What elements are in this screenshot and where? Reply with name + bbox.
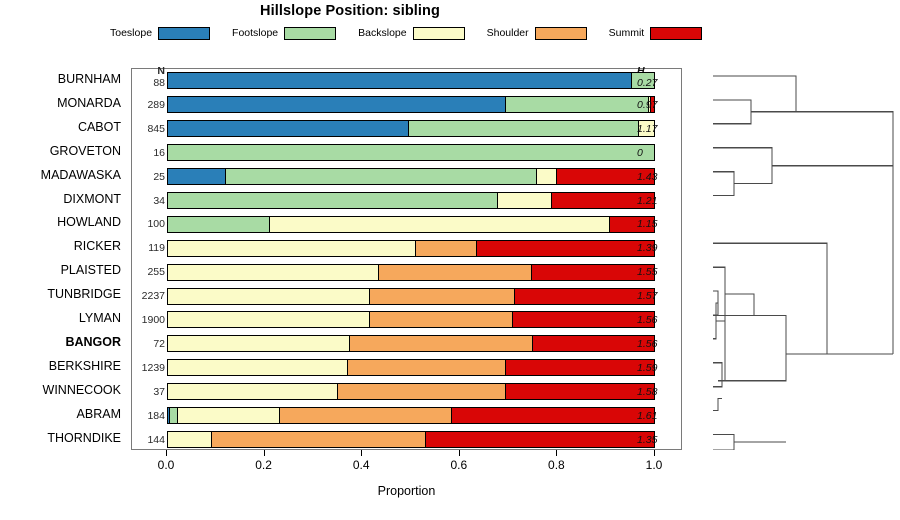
legend-label-summit: Summit	[609, 27, 645, 39]
legend-label-toeslope: Toeslope	[110, 27, 152, 39]
stacked-bar[interactable]	[167, 383, 655, 400]
bar-segment-shoulder[interactable]	[212, 432, 426, 447]
y-axis-label-thorndike: THORNDIKE	[0, 431, 127, 445]
y-axis-label-madawaska: MADAWASKA	[0, 168, 127, 182]
n-value: 72	[119, 338, 165, 350]
n-value: 88	[119, 77, 165, 89]
bar-segment-shoulder[interactable]	[379, 265, 532, 280]
stacked-bar[interactable]	[167, 407, 655, 424]
x-axis-tick-label: 0.4	[353, 458, 370, 472]
h-value: 1.17	[637, 123, 681, 135]
stacked-bar[interactable]	[167, 168, 655, 185]
h-value: 1.43	[637, 171, 681, 183]
h-value: 1.56	[637, 314, 681, 326]
h-value: 1.58	[637, 386, 681, 398]
h-value: 1.56	[637, 338, 681, 350]
stacked-bar[interactable]	[167, 288, 655, 305]
bar-segment-summit[interactable]	[533, 336, 655, 351]
stacked-bar[interactable]	[167, 216, 655, 233]
h-value: 0.27	[637, 77, 681, 89]
bar-segment-backslope[interactable]	[168, 336, 350, 351]
stacked-bar[interactable]	[167, 96, 655, 113]
bar-row: 1191.39	[132, 236, 681, 260]
bar-segment-backslope[interactable]	[168, 289, 370, 304]
n-column-header: N	[119, 65, 165, 77]
bar-row: 1841.61	[132, 404, 681, 428]
legend-label-shoulder: Shoulder	[487, 27, 529, 39]
bar-segment-summit[interactable]	[532, 265, 654, 280]
legend: Toeslope Footslope Backslope Shoulder Su…	[110, 25, 710, 41]
bar-segment-backslope[interactable]	[270, 217, 610, 232]
legend-item-toeslope: Toeslope	[110, 27, 210, 40]
n-value: 119	[119, 242, 165, 254]
n-value: 1900	[119, 314, 165, 326]
y-axis-label-cabot: CABOT	[0, 120, 127, 134]
stacked-bar[interactable]	[167, 144, 655, 161]
x-axis: 0.00.20.40.60.81.0	[131, 450, 682, 480]
bar-segment-shoulder[interactable]	[370, 312, 513, 327]
h-value: 1.61	[637, 410, 681, 422]
legend-swatch-backslope	[413, 27, 465, 40]
x-axis-tick-label: 1.0	[646, 458, 663, 472]
bar-row: 160	[132, 141, 681, 165]
y-axis-label-howland: HOWLAND	[0, 215, 127, 229]
x-axis-tick	[166, 450, 167, 456]
bar-segment-toeslope[interactable]	[168, 73, 632, 88]
n-value: 34	[119, 195, 165, 207]
dendrogram-svg	[690, 68, 895, 450]
bar-row: 2551.55	[132, 260, 681, 284]
bar-segment-shoulder[interactable]	[348, 360, 506, 375]
bar-segment-footslope[interactable]	[506, 97, 649, 112]
bar-segment-backslope[interactable]	[168, 312, 370, 327]
bar-segment-footslope[interactable]	[168, 193, 498, 208]
y-axis-label-ricker: RICKER	[0, 239, 127, 253]
bar-row: 341.21	[132, 189, 681, 213]
legend-item-summit: Summit	[609, 27, 703, 40]
dendrogram	[690, 68, 895, 450]
h-value: 1.21	[637, 195, 681, 207]
h-value: 1.35	[637, 434, 681, 446]
n-value: 16	[119, 147, 165, 159]
n-value: 100	[119, 218, 165, 230]
chart-title: Hillslope Position: sibling	[0, 3, 700, 19]
bar-segment-shoulder[interactable]	[350, 336, 532, 351]
bar-row: 12391.59	[132, 356, 681, 380]
bar-segment-summit[interactable]	[477, 241, 654, 256]
bar-row: 371.58	[132, 380, 681, 404]
n-value: 25	[119, 171, 165, 183]
y-axis-label-monarda: MONARDA	[0, 96, 127, 110]
bar-segment-shoulder[interactable]	[280, 408, 453, 423]
n-value: 845	[119, 123, 165, 135]
stacked-bar[interactable]	[167, 431, 655, 448]
h-value: 1.55	[637, 266, 681, 278]
stacked-bar[interactable]	[167, 72, 655, 89]
h-value: 0.97	[637, 99, 681, 111]
y-axis-label-dixmont: DIXMONT	[0, 192, 127, 206]
y-axis-label-groveton: GROVETON	[0, 144, 127, 158]
bar-segment-footslope[interactable]	[170, 408, 177, 423]
legend-item-footslope: Footslope	[232, 27, 336, 40]
n-value: 37	[119, 386, 165, 398]
bar-segment-summit[interactable]	[506, 384, 654, 399]
bar-segment-toeslope[interactable]	[168, 121, 409, 136]
x-axis-tick	[264, 450, 265, 456]
x-axis-tick	[459, 450, 460, 456]
bar-segment-toeslope[interactable]	[168, 169, 226, 184]
bar-segment-backslope[interactable]	[178, 408, 280, 423]
bar-segment-backslope[interactable]	[537, 169, 556, 184]
legend-item-backslope: Backslope	[358, 27, 464, 40]
stacked-bar[interactable]	[167, 311, 655, 328]
n-value: 184	[119, 410, 165, 422]
stacked-bar[interactable]	[167, 359, 655, 376]
y-axis-series-names: BURNHAMMONARDACABOTGROVETONMADAWASKADIXM…	[0, 68, 127, 450]
x-axis-tick	[361, 450, 362, 456]
n-value: 1239	[119, 362, 165, 374]
h-value: 1.15	[637, 218, 681, 230]
n-value: 144	[119, 434, 165, 446]
x-axis-tick-label: 0.8	[548, 458, 565, 472]
h-value: 1.39	[637, 242, 681, 254]
stacked-bar[interactable]	[167, 120, 655, 137]
legend-swatch-summit	[650, 27, 702, 40]
legend-label-backslope: Backslope	[358, 27, 406, 39]
legend-swatch-footslope	[284, 27, 336, 40]
h-value: 1.59	[637, 362, 681, 374]
bar-segment-summit[interactable]	[426, 432, 654, 447]
x-axis-tick-label: 0.0	[158, 458, 175, 472]
n-value: 2237	[119, 290, 165, 302]
bar-row: 1441.35	[132, 428, 681, 452]
legend-item-shoulder: Shoulder	[487, 27, 587, 40]
x-axis-tick	[654, 450, 655, 456]
x-axis-tick-label: 0.2	[255, 458, 272, 472]
bar-row: 22371.57	[132, 284, 681, 308]
stacked-bar[interactable]	[167, 264, 655, 281]
y-axis-label-burnham: BURNHAM	[0, 72, 127, 86]
bar-row: NH880.27	[132, 69, 681, 93]
bar-row: 1001.15	[132, 212, 681, 236]
bar-segment-footslope[interactable]	[226, 169, 537, 184]
legend-label-footslope: Footslope	[232, 27, 278, 39]
y-axis-label-abram: ABRAM	[0, 407, 127, 421]
bar-segment-summit[interactable]	[506, 360, 654, 375]
h-value: 0	[637, 147, 681, 159]
plot-panel: NH880.272890.978451.17160251.43341.21100…	[131, 68, 682, 450]
y-axis-label-winnecook: WINNECOOK	[0, 383, 127, 397]
x-axis-tick	[556, 450, 557, 456]
y-axis-label-tunbridge: TUNBRIDGE	[0, 287, 127, 301]
bar-segment-backslope[interactable]	[168, 241, 416, 256]
bar-segment-summit[interactable]	[452, 408, 654, 423]
bar-segment-toeslope[interactable]	[168, 97, 506, 112]
bar-segment-footslope[interactable]	[168, 145, 654, 160]
bar-segment-shoulder[interactable]	[338, 384, 506, 399]
y-axis-label-lyman: LYMAN	[0, 311, 127, 325]
y-axis-label-plaisted: PLAISTED	[0, 263, 127, 277]
bar-segment-shoulder[interactable]	[416, 241, 477, 256]
bar-row: 251.43	[132, 165, 681, 189]
bar-segment-shoulder[interactable]	[370, 289, 516, 304]
stacked-bar-rows: NH880.272890.978451.17160251.43341.21100…	[132, 69, 681, 449]
legend-swatch-toeslope	[158, 27, 210, 40]
n-value: 255	[119, 266, 165, 278]
legend-swatch-shoulder	[535, 27, 587, 40]
bar-segment-summit[interactable]	[515, 289, 654, 304]
bar-row: 19001.56	[132, 308, 681, 332]
bar-segment-backslope[interactable]	[498, 193, 551, 208]
bar-segment-backslope[interactable]	[168, 384, 338, 399]
bar-segment-footslope[interactable]	[409, 121, 640, 136]
stacked-bar[interactable]	[167, 192, 655, 209]
bar-segment-backslope[interactable]	[168, 360, 348, 375]
bar-segment-backslope[interactable]	[168, 265, 379, 280]
n-value: 289	[119, 99, 165, 111]
stacked-bar[interactable]	[167, 335, 655, 352]
x-axis-title: Proportion	[131, 484, 682, 498]
y-axis-label-bangor: BANGOR	[0, 335, 127, 349]
y-axis-label-berkshire: BERKSHIRE	[0, 359, 127, 373]
bar-segment-summit[interactable]	[513, 312, 654, 327]
bar-segment-backslope[interactable]	[168, 432, 212, 447]
bar-row: 8451.17	[132, 117, 681, 141]
x-axis-tick-label: 0.6	[450, 458, 467, 472]
h-value: 1.57	[637, 290, 681, 302]
bar-segment-footslope[interactable]	[168, 217, 270, 232]
bar-row: 721.56	[132, 332, 681, 356]
stacked-bar[interactable]	[167, 240, 655, 257]
bar-row: 2890.97	[132, 93, 681, 117]
